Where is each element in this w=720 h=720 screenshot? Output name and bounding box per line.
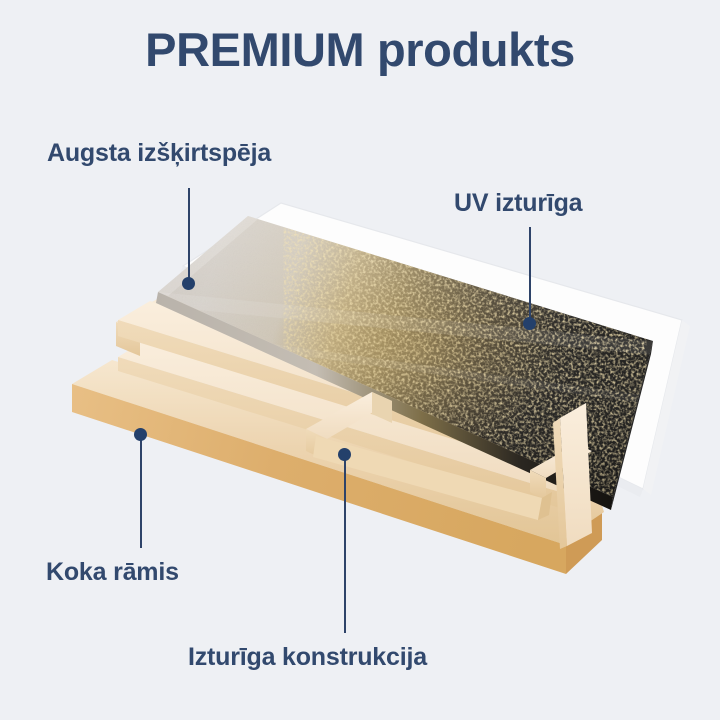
leader-line-construction xyxy=(344,458,346,633)
leader-line-uv xyxy=(529,227,531,324)
leader-line-frame xyxy=(140,438,142,548)
callout-label-frame: Koka rāmis xyxy=(46,558,179,587)
support-post xyxy=(553,403,592,549)
callout-label-uv: UV izturīga xyxy=(454,189,582,218)
callout-dot-frame[interactable] xyxy=(134,428,147,441)
callout-dot-resolution[interactable] xyxy=(182,277,195,290)
callout-dot-construction[interactable] xyxy=(338,448,351,461)
page-title: PREMIUM produkts xyxy=(0,22,720,77)
callout-label-resolution: Augsta izšķirtspēja xyxy=(47,139,271,168)
callout-dot-uv[interactable] xyxy=(523,317,536,330)
product-feature-graphic: PREMIUM produkts Augsta izšķirtspēja UV … xyxy=(0,0,720,720)
leader-line-resolution xyxy=(188,188,190,284)
exploded-canvas-print-diagram xyxy=(0,0,720,720)
callout-label-construction: Izturīga konstrukcija xyxy=(188,643,427,672)
